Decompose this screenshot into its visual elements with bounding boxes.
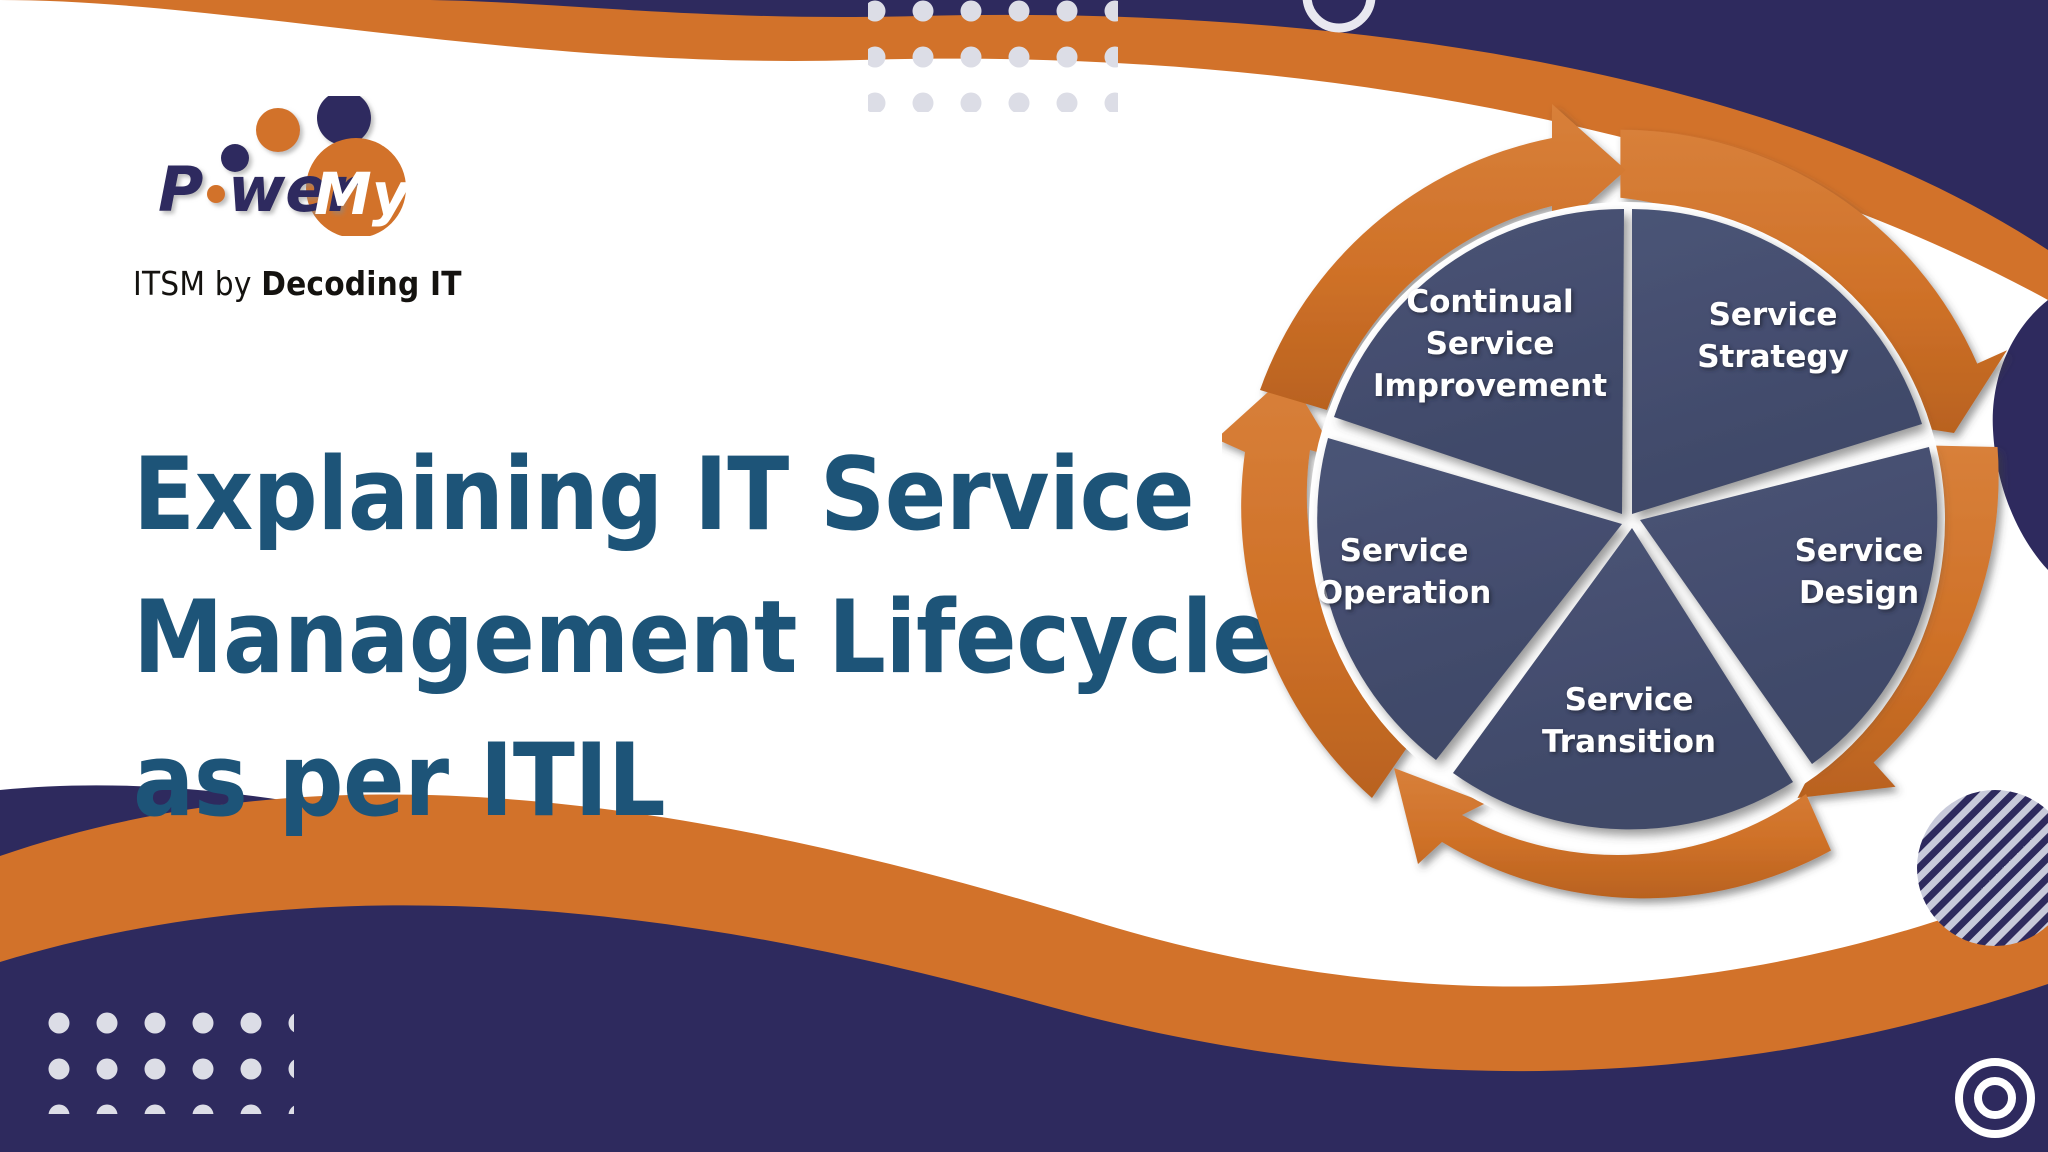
brand-logo[interactable]: P wer MyIT [128,96,448,276]
label-csi-line1: Continual [1406,284,1573,320]
slide-canvas: P wer MyIT ITSM by Decoding IT Explainin… [0,0,2048,1152]
label-strategy-line1: Service [1709,297,1838,333]
svg-text:P: P [158,153,203,226]
page-title-line-2: Management Lifecycle [133,566,1263,709]
brand-tagline: ITSM by Decoding IT [133,264,462,303]
page-title-line-3: as per ITIL [133,709,1263,852]
powermyit-logo-mark: P wer MyIT [128,96,448,236]
label-design-line2: Design [1799,575,1919,611]
label-transition-line2: Transition [1542,724,1716,760]
page-title: Explaining IT Service Management Lifecyc… [133,423,1263,853]
page-title-line-1: Explaining IT Service [133,423,1263,566]
label-operation-line1: Service [1340,533,1469,569]
dot-grid-bottom-left [44,1002,294,1114]
label-transition-line1: Service [1565,682,1694,718]
dot-grid-top [868,0,1118,112]
svg-text:MyIT: MyIT [314,160,448,228]
label-strategy-line2: Strategy [1697,339,1849,375]
logo-word-myit: MyIT [314,160,448,228]
tagline-bold: Decoding IT [261,264,461,303]
label-csi-line2: Service [1426,326,1555,362]
itil-lifecycle-diagram: Continual Service Improvement Service St… [1222,90,2022,930]
label-operation-line2: Operation [1317,575,1492,611]
itil-wheel-svg: Continual Service Improvement Service St… [1222,90,2022,930]
label-design-line1: Service [1795,533,1924,569]
tagline-light: ITSM by [133,264,261,303]
label-csi-line3: Improvement [1373,368,1607,404]
